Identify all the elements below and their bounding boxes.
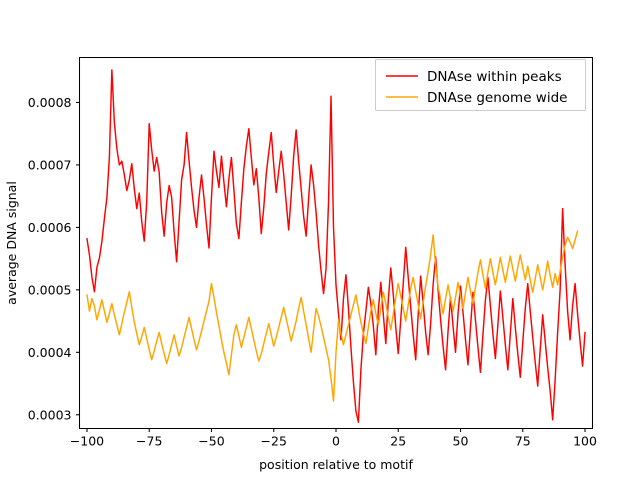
x-axis-ticks: −100−75−50−250255075100 bbox=[70, 429, 597, 449]
series-line-dnase-genome-wide bbox=[87, 231, 578, 401]
x-tick-label: −75 bbox=[136, 434, 162, 449]
x-tick-label: 0 bbox=[332, 434, 340, 449]
y-tick-label: 0.0006 bbox=[28, 220, 72, 235]
x-tick-label: −100 bbox=[70, 434, 104, 449]
y-tick-label: 0.0007 bbox=[28, 157, 72, 172]
axes-frame bbox=[80, 58, 593, 429]
series-line-dnase-within-peaks bbox=[87, 70, 585, 422]
y-tick-label: 0.0005 bbox=[28, 282, 72, 297]
x-tick-label: 100 bbox=[573, 434, 597, 449]
axes-spines bbox=[80, 58, 593, 429]
y-tick-label: 0.0008 bbox=[28, 95, 72, 110]
chart-plot: −100−75−50−250255075100 0.00030.00040.00… bbox=[0, 0, 640, 480]
x-tick-label: −50 bbox=[198, 434, 224, 449]
y-tick-label: 0.0003 bbox=[28, 407, 72, 422]
y-axis-label: average DNA signal bbox=[4, 181, 19, 305]
x-tick-label: 50 bbox=[453, 434, 469, 449]
y-axis-ticks: 0.00030.00040.00050.00060.00070.0008 bbox=[28, 95, 80, 422]
chart-legend: DNAse within peaks DNAse genome wide bbox=[376, 60, 586, 111]
y-tick-label: 0.0004 bbox=[28, 345, 72, 360]
legend-label-dnase-genome-wide: DNAse genome wide bbox=[427, 90, 567, 106]
x-tick-label: 25 bbox=[390, 434, 406, 449]
x-tick-label: 75 bbox=[515, 434, 531, 449]
figure-canvas: −100−75−50−250255075100 0.00030.00040.00… bbox=[0, 0, 640, 480]
series-group bbox=[87, 70, 585, 422]
legend-label-dnase-within-peaks: DNAse within peaks bbox=[427, 69, 562, 85]
x-tick-label: −25 bbox=[261, 434, 287, 449]
x-axis-label: position relative to motif bbox=[259, 457, 413, 472]
